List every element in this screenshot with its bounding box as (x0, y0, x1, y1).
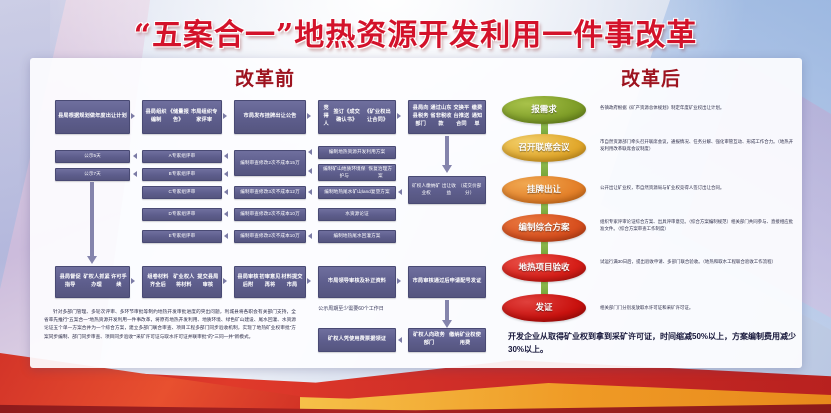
arrow-cost-3 (224, 189, 228, 195)
before-expert-3: C专家组评审 (142, 186, 222, 199)
after-step-ellipse-5: 地热项目验收 (502, 254, 586, 282)
before-cost-2: 编制审查修改3次不成本12万 (234, 186, 306, 199)
after-reform-conclusion: 开发企业从取得矿业权到拿到采矿许可证，时间缩减50%以上，方案编制费用减少30%… (508, 330, 798, 356)
after-step-ellipse-3: 挂牌出让 (502, 176, 586, 204)
after-reform-column: 改革后 报需求 各镇政府根据《矿产资源总体规划》制定年度矿业权出让计划。 召开联… (500, 58, 802, 368)
before-row2-box-2: 组卷材料齐全后矿业权人将材料提交县局审核 (142, 266, 222, 298)
before-expert-1: A专家组评审 (142, 150, 222, 163)
before-expert-5: E专家组评审 (142, 230, 222, 243)
before-plan-4: 水资源论证 (318, 208, 396, 221)
arrow-expert-2 (133, 171, 137, 177)
arrow-cost-2 (224, 171, 228, 177)
arrow-cost-4 (224, 211, 228, 217)
before-row1-box-2: 县局组织编制《储量报告》市局组织专家评审 (142, 100, 222, 134)
arrow-row1-1 (131, 113, 135, 119)
before-public-notice-2: 公示7天 (55, 168, 130, 181)
arrow-row2-3 (307, 278, 311, 284)
after-step-desc-4: 组织专家评审论证综合方案、出具评审意见。（综合方案编制规范）相关部门共同参与、直… (600, 218, 796, 233)
arrow-side-box (398, 189, 402, 195)
after-step-desc-1: 各镇政府根据《矿产资源总体规划》制定年度矿业权出让计划。 (600, 104, 796, 111)
arrow-head-bottom (442, 320, 452, 328)
arrow-row3-1 (398, 337, 402, 343)
arrow-cost-5 (224, 233, 228, 239)
after-step-desc-3: 公开出让矿业权，市自然资源局与矿业权竞得人签订出让合同。 (600, 184, 796, 191)
arrow-cost-1 (224, 153, 228, 159)
arrow-row2-1 (131, 278, 135, 284)
arrow-row2-2 (223, 278, 227, 284)
arrow-plan-3 (308, 189, 312, 195)
page-title: “五案合一”地热资源开发利用一件事改革 (134, 10, 698, 54)
before-row2-box-3: 县局审核后附初审意见再将材料提交市局 (234, 266, 306, 298)
after-step-ellipse-2: 召开联席会议 (502, 134, 586, 162)
before-row1-box-3: 市局发布挂牌出让公告 (234, 100, 306, 134)
before-reform-column: 改革前 县局根据规划做年度出让计划 县局组织编制《储量报告》市局组织专家评审 市… (30, 58, 500, 368)
arrow-head-left (87, 256, 97, 264)
before-row2-box-4: 市局领导审核及补正资料 (318, 266, 396, 298)
before-cost-4: 编制审查修改2次不成本10万 (234, 230, 306, 243)
arrow-row1-4 (397, 113, 401, 119)
before-row2-box-1: 县局督促指导矿权人抓紧办理许可手续 (55, 266, 130, 298)
arrow-stem-bottom (445, 300, 449, 322)
arrow-head-top (442, 165, 452, 173)
after-step-ellipse-4: 编制综合方案 (502, 214, 586, 242)
after-step-desc-6: 相关部门门分别发放取水许可证和采矿许可证。 (600, 304, 796, 311)
cycle-period-note: 公示周期至少需要60个工作日 (306, 306, 396, 314)
poster-title-bar: “五案合一”地热资源开发利用一件事改革 (0, 8, 831, 56)
before-plan-3: 编制地热尾水矿山land复垦方案 (318, 186, 396, 199)
before-reform-title: 改革前 (30, 64, 500, 91)
after-reform-title: 改革后 (500, 64, 802, 91)
before-row1-box-5: 县局向县税务部门通过山东省非税收款交换平台推送合同缴费通知单 (408, 100, 486, 134)
before-side-box: 矿权人缴纳矿业权出让收益（成交价部分） (408, 176, 486, 204)
arrow-stem-top (445, 136, 449, 166)
arrow-plan-1 (308, 149, 312, 155)
before-row1-box-4: 竞得人签订《成交确认书》《矿业权出让合同》 (318, 100, 396, 134)
after-step-ellipse-1: 报需求 (502, 96, 586, 124)
before-expert-2: B专家组评审 (142, 168, 222, 181)
before-row1-box-1: 县局根据规划做年度出让计划 (55, 100, 130, 134)
arrow-row1-3 (307, 113, 311, 119)
before-cost-1: 编制审查修改2次不成本15万 (234, 150, 306, 176)
main-panel: 改革前 县局根据规划做年度出让计划 县局组织编制《储量报告》市局组织专家评审 市… (30, 58, 802, 368)
before-plan-1: 编制地热资源开发利用方案 (318, 146, 396, 159)
before-row2-box-5: 市局审核通过后申请配号发证 (408, 266, 486, 298)
after-step-desc-2: 市自然资源部门牵头召开联席会议，通报情况、任务分解、强化审管互动、形成工作合力。… (600, 138, 796, 153)
before-expert-4: D专家组评审 (142, 208, 222, 221)
arrow-expert-1 (133, 153, 137, 159)
after-step-ellipse-6: 发证 (502, 294, 586, 322)
before-plan-2: 编制矿山地质环境保护与恢复治理方案 (318, 164, 396, 181)
arrow-plan-4 (308, 233, 312, 239)
before-cost-3: 编制审查修改2次不成本10万 (234, 208, 306, 221)
before-reform-paragraph: 针对多部门管理、多轮次评审、多环节审批等制约地热开发审批进度的突出问题，利城县将… (44, 308, 296, 341)
arrow-row1-2 (223, 113, 227, 119)
before-row3-box-2: 矿权人向政务部门缴纳矿业权使用费 (408, 328, 486, 352)
before-row3-box-1: 矿权人凭使用费票据领证 (318, 328, 396, 352)
before-plan-5: 编制地热尾水回灌方案 (318, 230, 396, 243)
arrow-stem-left (90, 182, 94, 258)
after-step-desc-5: 试运行满30日后，提出验收申请、多部门联合验收。（地热和取水工程联合验收工作流程… (600, 258, 796, 265)
arrow-plan-2 (308, 168, 312, 174)
before-public-notice-1: 公示5天 (55, 150, 130, 163)
arrow-row2-4 (397, 278, 401, 284)
